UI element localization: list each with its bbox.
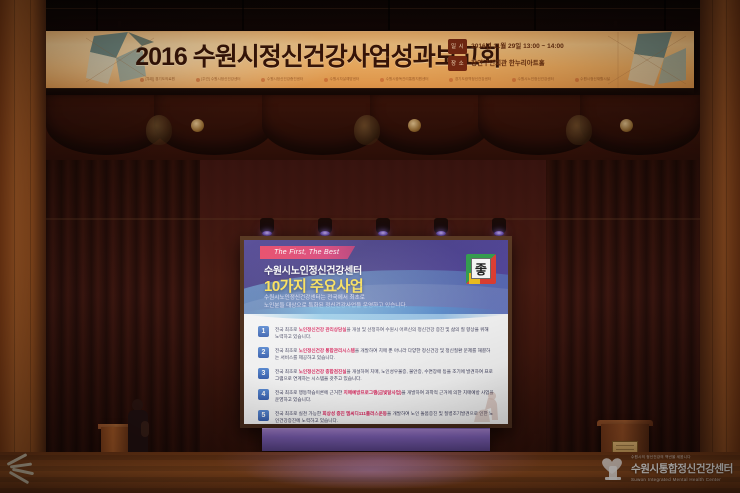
item-keyword: 회상성 증진 엠씨디111플러스운동 [322, 411, 387, 416]
curtain-swag [154, 95, 274, 155]
date-value: 2016년 11월 29일 13:00 ~ 14:00 [471, 41, 564, 53]
auditorium-wall-right [700, 0, 740, 493]
curtain-swag [370, 95, 490, 155]
presenter-arm [141, 421, 149, 437]
ceiling [0, 0, 740, 30]
sponsor-logo: 수원시정신건강증진센터 [261, 77, 303, 82]
ceiling-strut [664, 0, 666, 30]
date-label: 일 시 [448, 39, 467, 54]
banner-event-info: 일 시 2016년 11월 29일 13:00 ~ 14:00 장 소 장안구민… [448, 39, 616, 73]
auditorium-stage-photo: 2016 수원시정신건강사업성과보고회 일 시 2016년 11월 29일 13… [0, 0, 740, 493]
center-logo-glyph: 좋 [471, 258, 491, 279]
sponsor-logo: [주관] 수원시정신건강센터 [196, 77, 241, 82]
lighting-truss [46, 218, 700, 220]
watermark-text: 수원시의 정신건강의 백년을 세웁니다 수원시통합정신건강센터 Suwon In… [631, 455, 733, 482]
pillar-shape-icon [609, 466, 617, 480]
stage-light-wash [200, 448, 540, 493]
ceiling-strut [388, 0, 390, 30]
banner-sponsor-row: [주최] 경기도의료원 [주관] 수원시정신건강센터 수원시정신건강증진센터 수… [140, 74, 610, 85]
sponsor-logo: 경기도광역정신건강센터 [449, 77, 491, 82]
event-banner: 2016 수원시정신건강사업성과보고회 일 시 2016년 11월 29일 13… [40, 31, 694, 89]
sponsor-label: 수원시중독관리통합지원센터 [386, 77, 429, 82]
valance-lamp [191, 119, 204, 132]
banner-decoration-right [608, 32, 686, 89]
valance-ornament [354, 115, 380, 145]
heart-pillar-icon [600, 454, 626, 482]
item-text-pre: 전국 최초로 실천 가능한 [275, 411, 322, 416]
item-keyword: 노인정신건강 종합검진실 [299, 369, 347, 374]
projection-screen: The First, The Best 수원시노인정신건강센터 10가지 주요사… [244, 240, 508, 424]
sponsor-logo: 수원시중독관리통합지원센터 [380, 77, 428, 82]
list-item: 4 전국 최초로 행동학습이론에 근거한 치매예방프로그램(금빛달사업)을 개발… [258, 389, 494, 403]
sponsor-label: [주최] 경기도의료원 [146, 77, 175, 82]
list-item: 2 전국 최초로 노인정신건강 통합관리시스템을 개발하여 치매 뿐 아니라 다… [258, 347, 494, 361]
item-text: 전국 최초로 노인정신건강 관리상담실을 개설 및 선정하여 수원시 어르신의 … [275, 326, 494, 340]
item-text-pre: 전국 최초로 [275, 369, 299, 374]
auditorium-wall-left [0, 0, 46, 493]
slide-header: The First, The Best 수원시노인정신건강센터 10가지 주요사… [244, 240, 508, 314]
list-item: 5 전국 최초로 실천 가능한 회상성 증진 엠씨디111플러스운동을 개발하여… [258, 410, 494, 424]
decorative-plant [4, 448, 48, 488]
slide-title: 10가지 주요사업 [264, 275, 363, 296]
sponsor-logo: 수원시정신재활시설 [575, 77, 610, 82]
center-logo-icon: 좋 [466, 254, 496, 284]
sponsor-label: 경기도광역정신건강센터 [455, 77, 491, 82]
item-text-pre: 전국 최초로 [275, 327, 299, 332]
wall-seam [14, 0, 15, 493]
wall-seam [712, 0, 713, 493]
venue-value: 장안구민회관 한누리아트홀 [471, 58, 545, 70]
watermark-tagline: 수원시의 정신건강의 백년을 세웁니다 [631, 455, 733, 460]
ceiling-strut [534, 0, 536, 30]
projection-screen-frame: The First, The Best 수원시노인정신건강센터 10가지 주요사… [240, 236, 512, 428]
item-keyword: 노인정신건강 관리상담실 [299, 327, 347, 332]
valance-lamp [408, 119, 421, 132]
item-text: 전국 최초로 노인정신건강 종합검진실을 개설하여 치매, 노인성우울증, 불안… [275, 368, 494, 382]
slide-body: 1 전국 최초로 노인정신건강 관리상담실을 개설 및 선정하여 수원시 어르신… [244, 314, 508, 424]
watermark-korean-name: 수원시통합정신건강센터 [631, 461, 733, 476]
proscenium-valance [46, 95, 700, 170]
sponsor-label: 수원시정신재활시설 [580, 77, 610, 82]
item-badge: 4 [258, 389, 269, 400]
ceiling-strut [96, 0, 98, 30]
banner-drop-shadow [40, 88, 694, 95]
banner-info-row-venue: 장 소 장안구민회관 한누리아트홀 [448, 56, 616, 71]
item-badge: 2 [258, 347, 269, 358]
item-text: 전국 최초로 실천 가능한 회상성 증진 엠씨디111플러스운동을 개발하여 노… [275, 410, 494, 424]
ceiling-strut [242, 0, 244, 30]
venue-label: 장 소 [448, 56, 467, 71]
item-keyword: 노인정신건강 통합관리시스템 [299, 348, 355, 353]
sponsor-logo: 수원시노인정신건강센터 [512, 77, 554, 82]
valance-lamp [620, 119, 633, 132]
watermark-logo: 수원시의 정신건강의 백년을 세웁니다 수원시통합정신건강센터 Suwon In… [600, 448, 732, 488]
item-text: 전국 최초로 노인정신건강 통합관리시스템을 개발하여 치매 뿐 아니라 다양한… [275, 347, 494, 361]
valance-ornament [566, 115, 592, 145]
sponsor-label: 수원시노인정신건강센터 [518, 77, 554, 82]
sponsor-label: 수원시정신건강증진센터 [267, 77, 303, 82]
wall-seam [726, 0, 727, 493]
item-badge: 3 [258, 368, 269, 379]
valance-ornament [146, 115, 172, 145]
slide-ribbon-text: The First, The Best [274, 249, 339, 256]
slide-ribbon: The First, The Best [260, 246, 355, 259]
sponsor-label: 수원시자살예방센터 [330, 77, 360, 82]
banner-info-row-date: 일 시 2016년 11월 29일 13:00 ~ 14:00 [448, 39, 616, 54]
ceiling-rail [0, 8, 740, 9]
item-text-pre: 전국 최초로 행동학습이론에 근거한 [275, 390, 344, 395]
elder-figure-illustration-icon [468, 388, 502, 424]
sponsor-logo: 수원시자살예방센터 [324, 77, 359, 82]
item-badge: 1 [258, 326, 269, 337]
watermark-english-name: Suwon Integrated Mental Health Center [631, 477, 733, 482]
slide-subtitle-line1: 수원시노인정신건강센터는 전국에서 최초로 [264, 294, 407, 302]
list-item: 3 전국 최초로 노인정신건강 종합검진실을 개설하여 치매, 노인성우울증, … [258, 368, 494, 382]
curtain-swag [580, 95, 700, 155]
item-badge: 5 [258, 410, 269, 421]
wall-seam [30, 0, 31, 493]
list-item: 1 전국 최초로 노인정신건강 관리상담실을 개설 및 선정하여 수원시 어르신… [258, 326, 494, 340]
item-keyword: 치매예방프로그램(금빛달사업) [344, 390, 402, 395]
sponsor-logo: [주최] 경기도의료원 [140, 77, 175, 82]
item-text-pre: 전국 최초로 [275, 348, 299, 353]
item-text: 전국 최초로 행동학습이론에 근거한 치매예방프로그램(금빛달사업)을 개발하여… [275, 389, 494, 403]
sponsor-label: [주관] 수원시정신건강센터 [201, 77, 240, 82]
